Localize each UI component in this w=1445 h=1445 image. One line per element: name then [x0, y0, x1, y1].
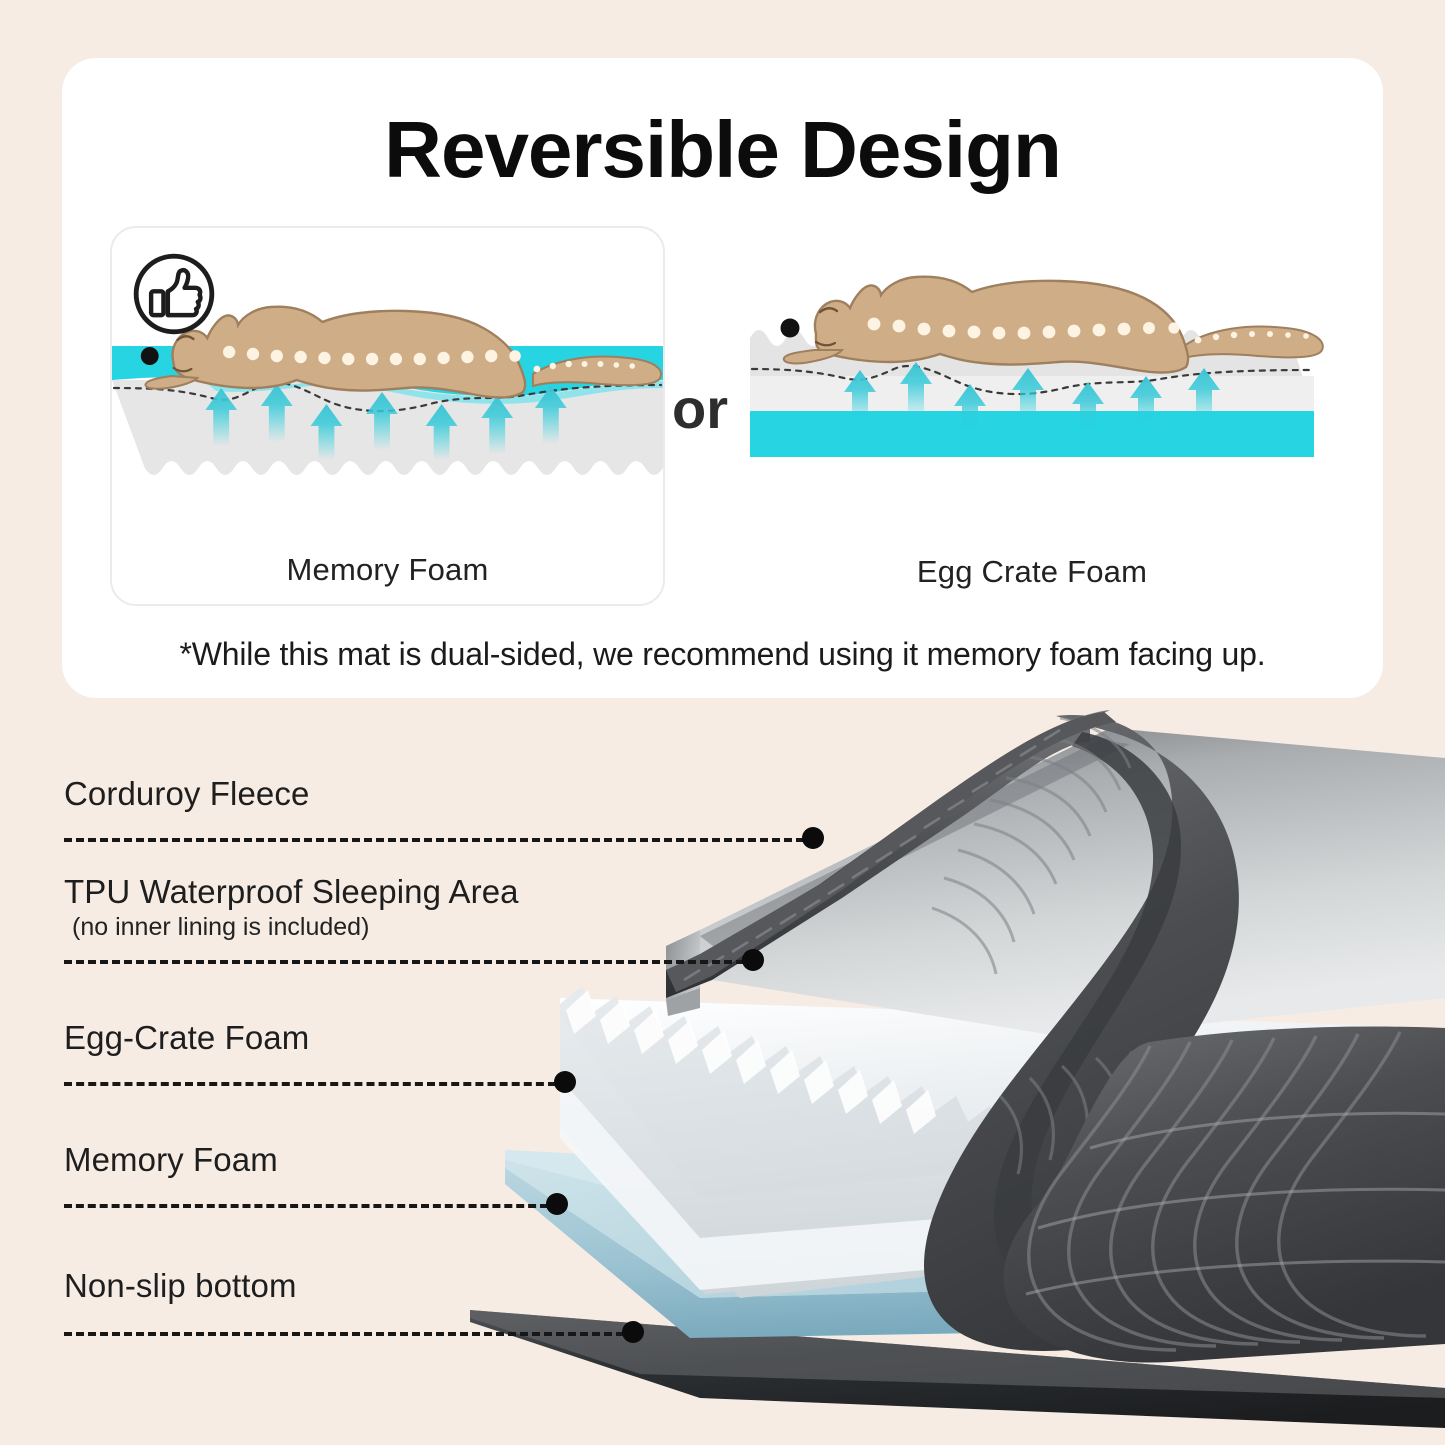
page-title: Reversible Design — [62, 104, 1383, 196]
leader-line-corduroy-fleece — [64, 838, 804, 842]
panel-caption-egg-crate-foam: Egg Crate Foam — [732, 554, 1332, 590]
callout-corduroy-fleece: Corduroy Fleece — [64, 776, 309, 813]
callout-label: Corduroy Fleece — [64, 776, 309, 813]
leader-dot-tpu-waterproof — [742, 949, 764, 971]
callout-sublabel: (no inner lining is included) — [64, 913, 519, 942]
leader-dot-memory-foam — [546, 1193, 568, 1215]
leader-dot-non-slip-bottom — [622, 1321, 644, 1343]
footnote-text: *While this mat is dual-sided, we recomm… — [62, 636, 1383, 673]
callout-label: Non-slip bottom — [64, 1268, 297, 1305]
leader-line-tpu-waterproof — [64, 960, 744, 964]
panel-memory-foam[interactable]: Memory Foam — [110, 226, 665, 606]
callout-label: TPU Waterproof Sleeping Area — [64, 874, 519, 911]
leader-dot-corduroy-fleece — [802, 827, 824, 849]
callout-memory-foam: Memory Foam — [64, 1142, 278, 1179]
callout-tpu-waterproof: TPU Waterproof Sleeping Area (no inner l… — [64, 874, 519, 942]
panel-egg-crate-foam[interactable]: Egg Crate Foam — [732, 226, 1332, 606]
layered-construction-section: Corduroy Fleece TPU Waterproof Sleeping … — [0, 698, 1445, 1445]
leader-dot-egg-crate-foam — [554, 1071, 576, 1093]
panel-caption-memory-foam: Memory Foam — [112, 552, 663, 588]
thumbs-up-icon — [130, 250, 218, 338]
leader-line-non-slip-bottom — [64, 1332, 624, 1336]
or-divider-label: or — [665, 376, 735, 441]
comparison-row: Memory Foam or — [62, 226, 1383, 611]
callout-label: Memory Foam — [64, 1142, 278, 1179]
callout-egg-crate-foam: Egg-Crate Foam — [64, 1020, 309, 1057]
callout-label: Egg-Crate Foam — [64, 1020, 309, 1057]
egg-crate-foam-diagram — [732, 226, 1332, 526]
leader-line-memory-foam — [64, 1204, 548, 1208]
callout-non-slip-bottom: Non-slip bottom — [64, 1268, 297, 1305]
reversible-design-card: Reversible Design — [62, 58, 1383, 698]
leader-line-egg-crate-foam — [64, 1082, 556, 1086]
